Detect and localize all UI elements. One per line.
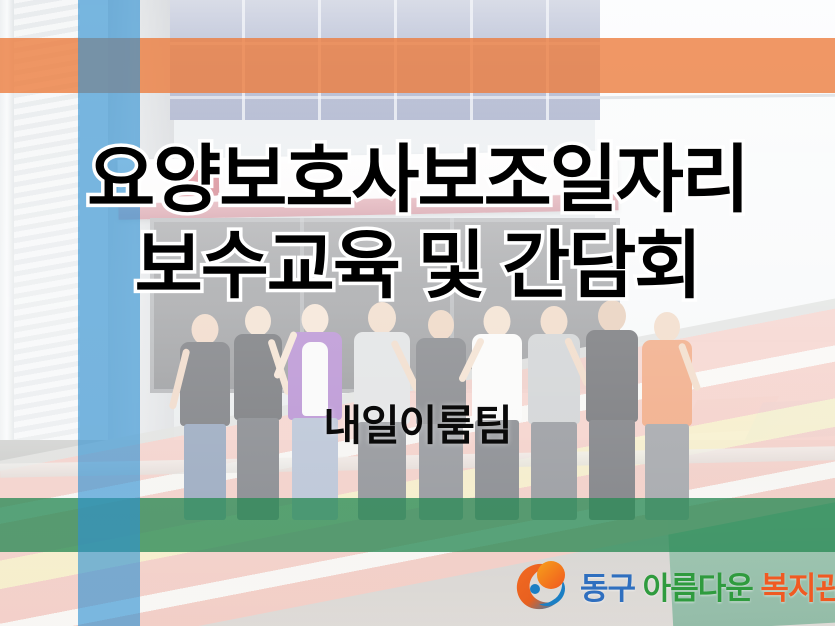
subtitle-text: 내일이룸팀 [0,392,835,453]
logo-word-bokjigwan: 복지관 [760,571,835,606]
dongu-welfare-center-emblem-icon [506,557,570,613]
organization-logo: 동구 아름다운 복지관 [506,557,835,613]
logo-word-areumdaun: 아름다운 [643,571,753,606]
logo-wordmark: 동구 아름다운 복지관 [580,563,835,608]
poster-canvas: 요양보호사보조일자리 보수교육 및 간담회 내일이룸팀 [0,0,835,626]
headline-block: 요양보호사보조일자리 보수교육 및 간담회 [0,143,835,315]
photo-glass-row [170,96,600,99]
logo-word-dongu: 동구 [580,571,635,606]
headline-line-1: 요양보호사보조일자리 [0,143,835,217]
headline-line-2: 보수교육 및 간담회 [0,229,835,303]
